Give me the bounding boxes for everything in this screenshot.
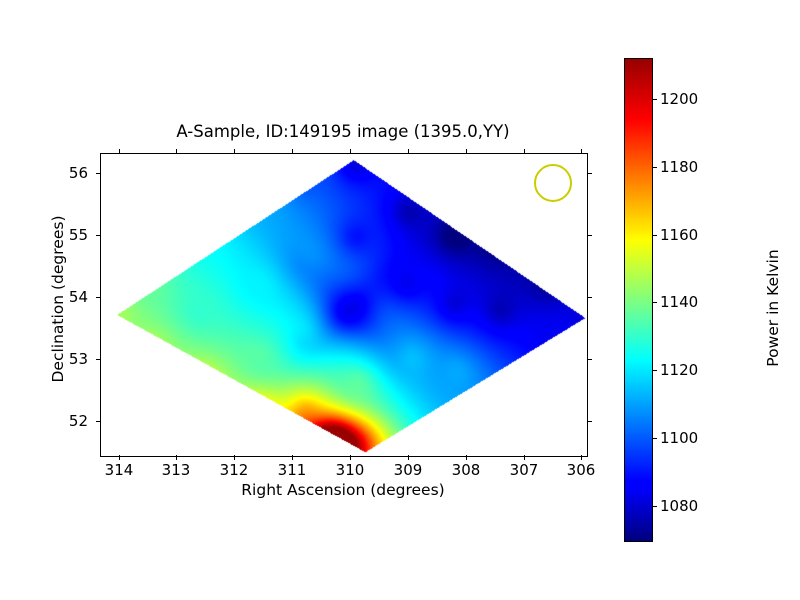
x-tick — [176, 455, 177, 460]
colorbar-tick-label: 1180 — [660, 158, 698, 176]
x-tick — [466, 455, 467, 460]
x-tick-label: 306 — [567, 461, 596, 479]
x-tick-label: 307 — [510, 461, 539, 479]
x-tick-top — [119, 149, 120, 154]
colorbar-tick-label: 1120 — [660, 361, 698, 379]
figure-canvas: A-Sample, ID:149195 image (1395.0,YY) 31… — [0, 0, 800, 600]
y-tick — [96, 297, 101, 298]
x-tick — [234, 455, 235, 460]
x-tick-top — [350, 149, 351, 154]
colorbar-tick — [652, 99, 657, 100]
y-axis-label: Declination (degrees) — [49, 139, 67, 459]
x-tick-label: 313 — [162, 461, 191, 479]
x-tick-top — [234, 149, 235, 154]
y-tick-right — [587, 235, 592, 236]
y-tick-right — [587, 359, 592, 360]
x-tick — [524, 455, 525, 460]
y-tick — [96, 421, 101, 422]
colorbar[interactable] — [624, 58, 653, 542]
colorbar-tick-label: 1080 — [660, 497, 698, 515]
x-tick-label: 308 — [452, 461, 481, 479]
x-tick-label: 311 — [278, 461, 307, 479]
colorbar-tick — [652, 167, 657, 168]
colorbar-tick-label: 1100 — [660, 429, 698, 447]
x-tick-top — [581, 149, 582, 154]
sky-image-axes[interactable] — [100, 153, 588, 457]
x-tick-label: 314 — [105, 461, 134, 479]
x-tick — [350, 455, 351, 460]
colorbar-gradient — [625, 59, 652, 541]
page-title: A-Sample, ID:149195 image (1395.0,YY) — [100, 122, 586, 141]
y-tick-right — [587, 173, 592, 174]
x-tick-top — [292, 149, 293, 154]
colorbar-tick-label: 1200 — [660, 90, 698, 108]
y-tick-label: 52 — [0, 412, 88, 430]
colorbar-tick-label: 1140 — [660, 293, 698, 311]
y-tick — [96, 359, 101, 360]
y-tick — [96, 235, 101, 236]
colorbar-tick — [652, 235, 657, 236]
x-axis-label: Right Ascension (degrees) — [100, 481, 586, 499]
y-tick-label: 54 — [0, 288, 88, 306]
x-tick-top — [408, 149, 409, 154]
x-tick-label: 310 — [336, 461, 365, 479]
x-tick — [408, 455, 409, 460]
y-tick-label: 53 — [0, 350, 88, 368]
colorbar-tick — [652, 302, 657, 303]
y-tick-label: 55 — [0, 226, 88, 244]
y-tick-right — [587, 421, 592, 422]
colorbar-tick — [652, 370, 657, 371]
x-tick-top — [524, 149, 525, 154]
x-tick-top — [176, 149, 177, 154]
x-tick-top — [466, 149, 467, 154]
colorbar-label: Power in Kelvin — [764, 178, 782, 438]
x-tick — [292, 455, 293, 460]
x-tick-label: 309 — [394, 461, 423, 479]
y-tick-label: 56 — [0, 164, 88, 182]
x-tick — [119, 455, 120, 460]
x-tick — [581, 455, 582, 460]
y-tick-right — [587, 297, 592, 298]
power-heatmap — [101, 154, 587, 456]
y-tick — [96, 173, 101, 174]
colorbar-tick — [652, 438, 657, 439]
colorbar-tick-label: 1160 — [660, 226, 698, 244]
x-tick-label: 312 — [220, 461, 249, 479]
colorbar-tick — [652, 506, 657, 507]
